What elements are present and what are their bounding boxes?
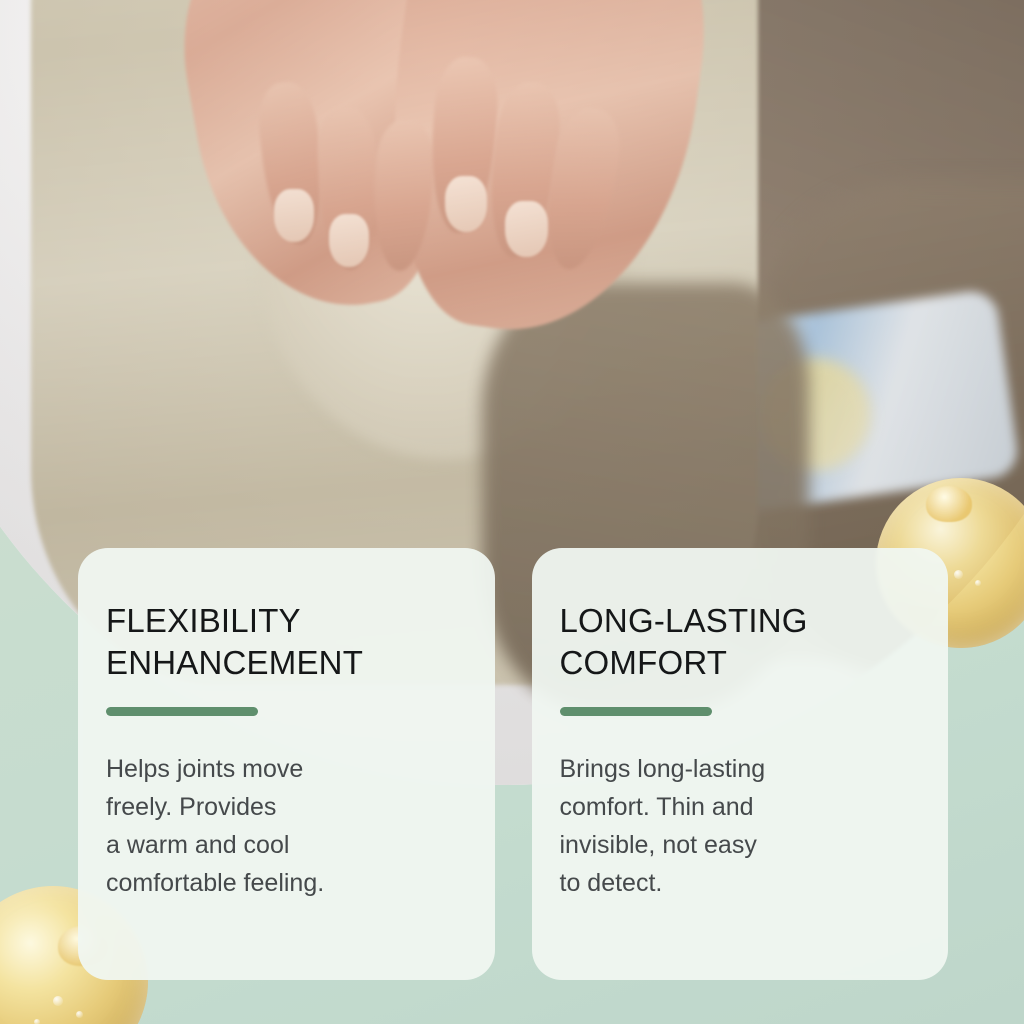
- photo-fingernail: [274, 189, 314, 242]
- benefit-card-flexibility[interactable]: FLEXIBILITY ENHANCEMENT Helps joints mov…: [78, 548, 495, 980]
- oil-bubble: [975, 580, 981, 586]
- oil-bubble: [34, 1019, 40, 1024]
- card-body-text: Brings long-lasting comfort. Thin and in…: [560, 750, 911, 902]
- photo-fingernail: [329, 214, 369, 267]
- card-accent-rule: [560, 707, 712, 716]
- oil-bubble: [76, 1011, 83, 1018]
- oil-bubble: [53, 996, 63, 1006]
- oil-drop-right-cap: [926, 486, 972, 522]
- benefit-card-list: FLEXIBILITY ENHANCEMENT Helps joints mov…: [78, 548, 948, 980]
- photo-fingernail: [505, 201, 548, 256]
- photo-fingernail: [445, 176, 488, 231]
- promo-canvas: FLEXIBILITY ENHANCEMENT Helps joints mov…: [0, 0, 1024, 1024]
- card-title: LONG-LASTING COMFORT: [560, 600, 911, 683]
- card-accent-rule: [106, 707, 258, 716]
- oil-bubble: [954, 570, 963, 579]
- card-title: FLEXIBILITY ENHANCEMENT: [106, 600, 457, 683]
- benefit-card-comfort[interactable]: LONG-LASTING COMFORT Brings long-lasting…: [532, 548, 949, 980]
- card-body-text: Helps joints move freely. Provides a war…: [106, 750, 457, 902]
